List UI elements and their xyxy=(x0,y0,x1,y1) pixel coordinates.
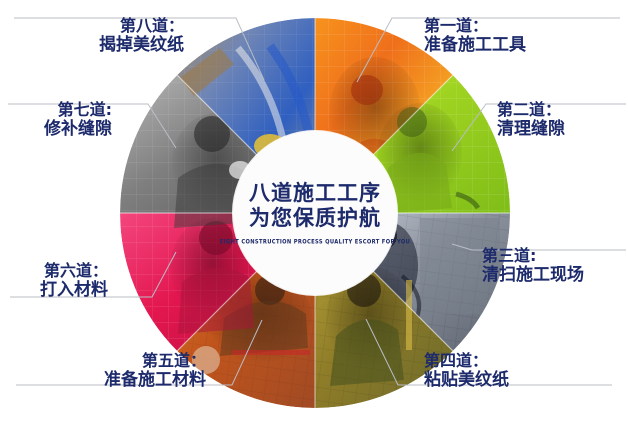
step-4-prefix: 第四道： xyxy=(424,351,509,370)
step-3-prefix: 第三道: xyxy=(482,246,584,265)
step-1-name: 准备施工工具 xyxy=(424,35,526,55)
step-2-name: 清理缝隙 xyxy=(497,119,565,139)
step-4-name: 粘贴美纹纸 xyxy=(424,370,509,390)
center-hub: 八道施工工序 为您保质护航 EIGHT CONSTRUCTION PROCESS… xyxy=(233,131,397,295)
step-6-prefix: 第六道： xyxy=(40,261,108,280)
step-label-6[interactable]: 第六道： 打入材料 xyxy=(40,261,108,301)
step-label-8[interactable]: 第八道： 揭掉美纹纸 xyxy=(99,16,184,56)
step-5-name: 准备施工材料 xyxy=(104,370,206,390)
step-label-5[interactable]: 第五道： 准备施工材料 xyxy=(104,351,206,391)
step-label-1[interactable]: 第一道： 准备施工工具 xyxy=(424,16,526,56)
step-3-name: 清扫施工现场 xyxy=(482,265,584,285)
step-label-2[interactable]: 第二道： 清理缝隙 xyxy=(497,100,565,140)
hub-subtitle-english: EIGHT CONSTRUCTION PROCESS QUALITY ESCOR… xyxy=(220,239,410,247)
infographic-canvas: 八道施工工序 为您保质护航 EIGHT CONSTRUCTION PROCESS… xyxy=(0,0,628,427)
step-8-name: 揭掉美纹纸 xyxy=(99,35,184,55)
hub-title-line2: 为您保质护航 xyxy=(249,206,381,231)
step-1-prefix: 第一道： xyxy=(424,16,526,35)
step-7-prefix: 第七道: xyxy=(44,100,112,119)
step-label-3[interactable]: 第三道: 清扫施工现场 xyxy=(482,246,584,286)
step-2-prefix: 第二道： xyxy=(497,100,565,119)
hub-title-line1: 八道施工工序 xyxy=(249,181,381,206)
step-5-prefix: 第五道： xyxy=(104,351,206,370)
step-label-4[interactable]: 第四道： 粘贴美纹纸 xyxy=(424,351,509,391)
step-label-7[interactable]: 第七道: 修补缝隙 xyxy=(44,100,112,140)
step-8-prefix: 第八道： xyxy=(99,16,184,35)
step-7-name: 修补缝隙 xyxy=(44,119,112,139)
step-6-name: 打入材料 xyxy=(40,280,108,300)
